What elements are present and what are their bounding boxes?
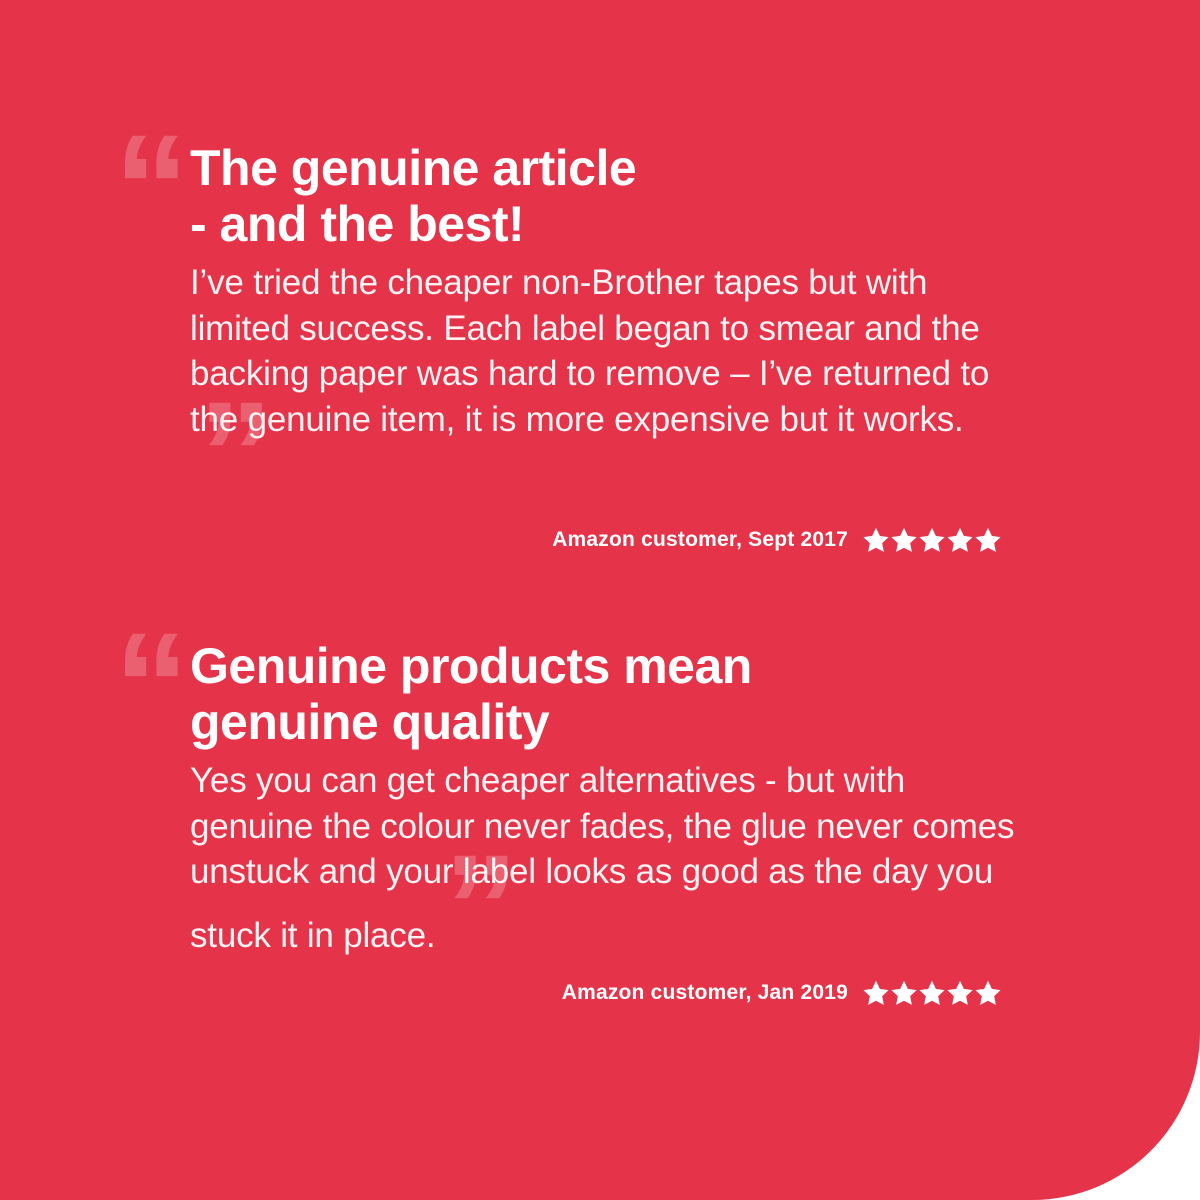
review-card-canvas: “ The genuine article - and the best! I’…	[0, 0, 1200, 1200]
review-body-1: The genuine article - and the best! I’ve…	[190, 140, 1018, 499]
attribution-name-1: Amazon customer, Sept 2017	[552, 528, 848, 552]
review-text-2: Yes you can get cheaper alternatives - b…	[190, 761, 1014, 955]
attribution-2: Amazon customer, Jan 2019	[302, 979, 1002, 1007]
review-heading-2: Genuine products mean genuine quality	[190, 638, 1018, 750]
star-icon	[918, 979, 946, 1007]
quote-open-glyph: “	[114, 112, 192, 262]
star-rating-1	[862, 526, 1002, 554]
star-rating-2	[862, 979, 1002, 1007]
review-text-1: I’ve tried the cheaper non-Brother tapes…	[190, 263, 989, 439]
quote-open-glyph: “	[114, 610, 192, 760]
review-text-wrap-2: Yes you can get cheaper alternatives - b…	[190, 758, 1018, 958]
review-heading-1: The genuine article - and the best!	[190, 140, 1018, 252]
quote-open-icon: “	[118, 146, 192, 220]
star-icon	[862, 526, 890, 554]
reviews-container: “ The genuine article - and the best! I’…	[0, 0, 1200, 1200]
star-icon	[946, 979, 974, 1007]
review-text-wrap-1: I’ve tried the cheaper non-Brother tapes…	[190, 260, 1018, 499]
review-block-1: “ The genuine article - and the best! I’…	[118, 140, 1018, 499]
star-icon	[862, 979, 890, 1007]
star-icon	[918, 526, 946, 554]
attribution-name-2: Amazon customer, Jan 2019	[562, 981, 848, 1005]
review-block-2: “ Genuine products mean genuine quality …	[118, 638, 1018, 958]
star-icon	[974, 526, 1002, 554]
star-icon	[946, 526, 974, 554]
star-icon	[890, 526, 918, 554]
star-icon	[974, 979, 1002, 1007]
attribution-1: Amazon customer, Sept 2017	[302, 526, 1002, 554]
star-icon	[890, 979, 918, 1007]
review-body-2: Genuine products mean genuine quality Ye…	[190, 638, 1018, 958]
quote-open-icon: “	[118, 644, 192, 718]
